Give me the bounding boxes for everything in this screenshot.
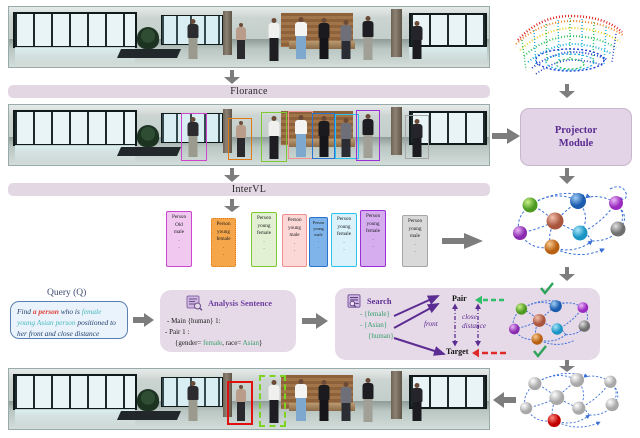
detection-box-2 [228,118,252,160]
result-box-query-person [227,381,253,425]
card-line: . [283,240,306,248]
analysis-line-main: - Main {human} 1: [167,316,221,327]
query-title: Query (Q) [47,288,86,298]
card-line: . [403,248,427,256]
attr-suffix: } [259,339,262,347]
scene-graph-colored [500,185,640,267]
person-6 [340,20,352,59]
search-token-asian: {Asian} [364,321,387,329]
person-3 [268,18,280,61]
card-line: . [310,244,327,250]
card-line: male [167,229,191,237]
person-card-2[interactable]: Person young female . . [251,212,277,267]
card-line: female [361,228,385,236]
card-line: . [332,246,356,254]
arrow-into-projector [492,128,520,144]
card-line: Person [403,218,427,226]
floor-mat-2 [117,147,181,156]
card-line: young [252,223,276,231]
card-line: . [403,241,427,249]
arrow-down-to-internvl [224,168,240,182]
glass-wall-left-2 [13,110,137,146]
person-card-0[interactable]: Person Old male . . [166,211,192,267]
card-line: . [212,251,235,259]
scene-graph-result [500,366,640,438]
person-1 [187,19,199,59]
person-card-7[interactable]: Person young male . . [402,215,428,267]
card-line: female [332,231,356,239]
search-item-female: - {female} [360,309,390,320]
person-card-5[interactable]: Person young female . . [331,213,357,267]
front-label: front [424,320,438,328]
query-text-plain-2: who is [59,307,82,316]
person-2 [235,23,246,59]
person-6 [340,382,352,421]
attr-mid: , race= [222,339,242,347]
panorama-detections [8,104,490,166]
attr-female: female [203,339,222,347]
pair-label: Pair [452,294,467,303]
person-8 [411,21,423,59]
person-7 [362,378,374,422]
projector-module[interactable]: Projector Module [520,108,632,166]
person-4 [294,379,307,421]
close-distance-line2: distance [462,322,486,331]
card-line: Person [361,213,385,221]
panorama-result [8,368,490,430]
card-line: young [212,229,235,237]
card-line: male [403,233,427,241]
card-line: male [283,232,306,240]
detection-box-4 [288,111,313,159]
person-card-1[interactable]: Person young female . . [211,218,236,267]
arrow-down-to-florence [224,70,240,84]
person-card-4[interactable]: Person young male . . [309,217,328,267]
card-line: Old [167,222,191,230]
card-line: young [332,224,356,232]
arrow-relation-to-result-graph [559,360,575,372]
result-box-target-person [259,375,286,427]
close-distance-label: close distance [462,313,486,331]
person-card-3[interactable]: Person young male . . [282,214,307,267]
search-token-female: {female} [364,310,390,318]
detection-box-5 [312,113,335,159]
scene-graph-inline [500,292,600,356]
pillar-right [391,9,402,57]
card-line: young [283,225,306,233]
card-line: female [252,230,276,238]
card-line: Person [252,215,276,223]
arrow-cards-to-graph [442,233,484,249]
card-line: Person [212,221,235,229]
card-line: Person [332,216,356,224]
person-card-6[interactable]: Person young female . . [360,210,386,267]
card-line: . [167,244,191,252]
arrow-down-to-projector [559,84,575,98]
glass-wall-left [13,12,137,48]
detection-box-7 [356,110,380,161]
detection-box-8 [405,115,429,159]
stage-florence: Florance [8,85,490,98]
query-text-plain-1: Find [17,307,33,316]
person-1 [187,381,199,421]
pillar-right-2 [391,107,402,155]
projector-title-line2: Module [555,137,597,150]
card-line: . [361,243,385,251]
potted-plant-2 [137,125,159,147]
card-line: Person [283,217,306,225]
person-5 [318,380,330,421]
search-item-human: {human} [368,331,394,342]
potted-plant-3 [137,389,159,411]
card-line: . [332,239,356,247]
detection-box-1 [181,113,207,161]
glass-wall-left-3 [13,374,137,410]
card-line: female [212,236,235,244]
floor-mat [117,49,181,58]
pillar-right-3 [391,371,402,419]
pillar-left [223,11,232,55]
card-line: . [252,238,276,246]
person-8 [411,383,423,421]
floor-mat-3 [117,411,181,420]
arrow-graph-to-relation [559,267,575,281]
card-line: . [283,247,306,255]
analysis-title: Analysis Sentence [208,299,272,308]
panorama-top [8,6,490,68]
card-line: Person [167,214,191,222]
person-5 [318,18,330,59]
lidar-point-cloud [500,4,636,82]
arrow-result-to-panorama [492,392,516,408]
card-line: . [212,244,235,252]
analysis-line-attributes: {gender= female, race= Asian} [175,338,262,349]
search-title: Search [367,297,392,306]
card-line: . [252,245,276,253]
stage-internvl: InterVL [8,183,490,196]
person-4 [294,17,307,59]
card-line: young [361,221,385,229]
attr-prefix: {gender= [175,339,203,347]
card-line: . [361,236,385,244]
document-analysis-icon [186,295,203,311]
card-line: young [403,226,427,234]
attr-asian: Asian [243,339,259,347]
analysis-line-pair: - Pair 1 : [165,327,189,338]
arrow-query-to-analysis [133,313,155,327]
close-distance-line1: close [462,313,486,322]
potted-plant [137,27,159,49]
arrow-analysis-to-search [302,313,328,329]
card-line: . [167,237,191,245]
detection-box-3 [261,112,287,162]
arrow-projector-to-graph [559,168,575,184]
projector-title-line1: Projector [555,124,597,137]
query-bubble[interactable]: Find a person who is female young Asian … [10,301,128,339]
person-7 [362,16,374,60]
query-text-highlight-person: a person [33,307,59,316]
arrow-down-to-cards [224,199,240,212]
search-item-asian: - {Asian} [360,320,387,331]
